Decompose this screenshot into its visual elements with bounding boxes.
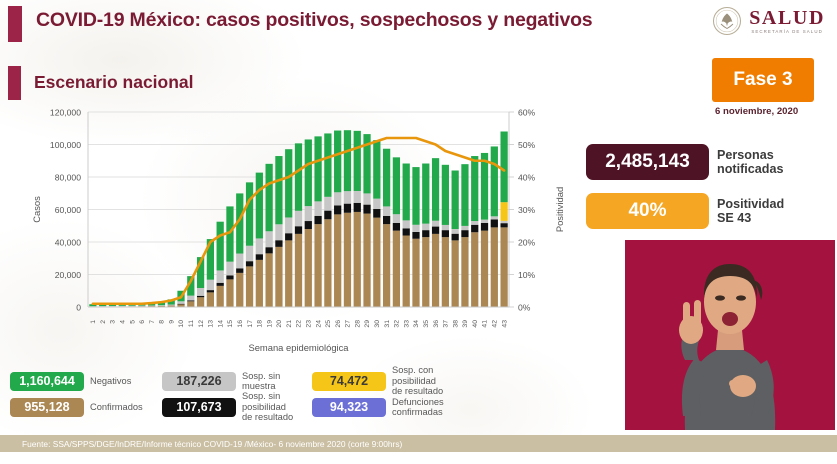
svg-text:32: 32 [394, 320, 401, 328]
svg-text:37: 37 [443, 320, 450, 328]
eagle-seal-icon [712, 6, 742, 36]
stat-value: 40% [586, 193, 709, 229]
legend-item: 94,323 Defunciones confirmadas [312, 397, 470, 418]
svg-text:40,000: 40,000 [55, 237, 82, 247]
svg-text:5: 5 [129, 320, 136, 324]
epidemic-curve-chart: 020,00040,00060,00080,000100,000120,0000… [26, 104, 571, 359]
legend-item: 1,160,644 Negativos [10, 372, 162, 391]
header-accent-bar [8, 6, 22, 42]
svg-text:33: 33 [403, 320, 410, 328]
svg-text:50%: 50% [518, 140, 536, 150]
svg-text:42: 42 [492, 320, 499, 328]
interpreter-figure [625, 240, 835, 430]
svg-text:60%: 60% [518, 107, 536, 117]
svg-text:35: 35 [423, 320, 430, 328]
svg-text:19: 19 [266, 320, 273, 328]
svg-text:120,000: 120,000 [50, 107, 81, 117]
dashboard-root: COVID-19 México: casos positivos, sospec… [0, 0, 837, 464]
svg-text:13: 13 [208, 320, 215, 328]
section-accent-bar [8, 66, 21, 100]
legend-value-badge: 955,128 [10, 398, 84, 417]
svg-text:20,000: 20,000 [55, 270, 82, 280]
svg-text:24: 24 [315, 320, 322, 328]
svg-text:26: 26 [335, 320, 342, 328]
svg-text:28: 28 [354, 320, 361, 328]
fase-badge: Fase 3 [712, 58, 814, 102]
svg-text:Positividad: Positividad [554, 187, 565, 232]
legend-value-badge: 1,160,644 [10, 372, 84, 391]
svg-text:39: 39 [462, 320, 469, 328]
logo-wordmark: SALUD [749, 8, 825, 28]
svg-text:31: 31 [384, 320, 391, 328]
svg-text:11: 11 [188, 320, 195, 327]
legend-label: Sosp. sin posibilidad de resultado [242, 391, 312, 422]
chart-canvas: 020,00040,00060,00080,000100,000120,0000… [26, 104, 571, 359]
svg-text:2: 2 [100, 320, 107, 324]
salud-logo: SALUD SECRETARÍA DE SALUD [712, 6, 825, 36]
legend-value-badge: 107,673 [162, 398, 236, 417]
svg-text:38: 38 [452, 320, 459, 328]
legend-label: Sosp. con posibilidad de resultado [392, 365, 470, 396]
svg-text:80,000: 80,000 [55, 172, 82, 182]
svg-text:7: 7 [149, 320, 156, 324]
legend-value-badge: 187,226 [162, 372, 236, 391]
svg-text:6: 6 [139, 320, 146, 324]
page-title: COVID-19 México: casos positivos, sospec… [36, 9, 592, 32]
stat-label: Personas notificadas [717, 148, 783, 176]
svg-text:9: 9 [168, 320, 175, 324]
legend-value-badge: 74,472 [312, 372, 386, 391]
svg-text:4: 4 [119, 320, 126, 324]
svg-text:15: 15 [227, 320, 234, 328]
svg-text:27: 27 [345, 320, 352, 328]
svg-text:41: 41 [482, 320, 489, 328]
svg-text:20%: 20% [518, 237, 536, 247]
svg-text:21: 21 [286, 320, 293, 328]
svg-text:29: 29 [364, 320, 371, 328]
stat-label: Positividad SE 43 [717, 197, 784, 225]
legend-label: Negativos [90, 376, 131, 386]
svg-text:10%: 10% [518, 270, 536, 280]
svg-text:20: 20 [276, 320, 283, 328]
svg-text:23: 23 [305, 320, 312, 328]
legend-item: 187,226 Sosp. sin muestra [162, 371, 312, 392]
svg-text:60,000: 60,000 [55, 205, 82, 215]
svg-text:30%: 30% [518, 205, 536, 215]
svg-text:36: 36 [433, 320, 440, 328]
svg-text:43: 43 [501, 320, 508, 328]
svg-text:25: 25 [325, 320, 332, 328]
legend-value-badge: 94,323 [312, 398, 386, 417]
chart-legend: 1,160,644 Negativos 187,226 Sosp. sin mu… [10, 368, 570, 420]
legend-label: Defunciones confirmadas [392, 397, 444, 418]
logo-subtitle: SECRETARÍA DE SALUD [749, 30, 825, 34]
svg-text:0%: 0% [518, 302, 531, 312]
svg-text:Casos: Casos [31, 196, 42, 223]
svg-text:100,000: 100,000 [50, 140, 81, 150]
legend-item: 107,673 Sosp. sin posibilidad de resulta… [162, 391, 312, 422]
page-header: COVID-19 México: casos positivos, sospec… [0, 0, 837, 46]
legend-item: 955,128 Confirmados [10, 398, 162, 417]
legend-label: Confirmados [90, 402, 143, 412]
section-title: Escenario nacional [34, 72, 194, 93]
footer-strip [0, 452, 837, 464]
svg-text:0: 0 [76, 302, 81, 312]
logo-text-block: SALUD SECRETARÍA DE SALUD [749, 8, 825, 34]
legend-label: Sosp. sin muestra [242, 371, 312, 392]
svg-text:1: 1 [90, 320, 97, 324]
svg-text:30: 30 [374, 320, 381, 328]
fase-label: Fase 3 [733, 69, 792, 91]
stat-value: 2,485,143 [586, 144, 709, 180]
svg-text:16: 16 [237, 320, 244, 328]
svg-text:14: 14 [217, 320, 224, 328]
report-date: 6 noviembre, 2020 [715, 106, 798, 117]
sign-language-interpreter-video [625, 240, 835, 430]
source-footer: Fuente: SSA/SPPS/DGE/InDRE/Informe técni… [0, 435, 837, 452]
svg-text:22: 22 [296, 320, 303, 328]
source-text: Fuente: SSA/SPPS/DGE/InDRE/Informe técni… [0, 439, 402, 449]
svg-text:40: 40 [472, 320, 479, 328]
svg-text:17: 17 [247, 320, 254, 328]
svg-text:12: 12 [198, 320, 205, 328]
svg-text:8: 8 [159, 320, 166, 324]
stat-personas-notificadas: 2,485,143 Personas notificadas [586, 144, 783, 180]
svg-text:40%: 40% [518, 172, 536, 182]
svg-text:10: 10 [178, 320, 185, 328]
svg-text:Semana epidemiológica: Semana epidemiológica [248, 342, 349, 353]
svg-text:18: 18 [257, 320, 264, 328]
svg-text:3: 3 [110, 320, 117, 324]
legend-item: 74,472 Sosp. con posibilidad de resultad… [312, 365, 470, 396]
svg-text:34: 34 [413, 320, 420, 328]
stat-positividad: 40% Positividad SE 43 [586, 193, 784, 229]
